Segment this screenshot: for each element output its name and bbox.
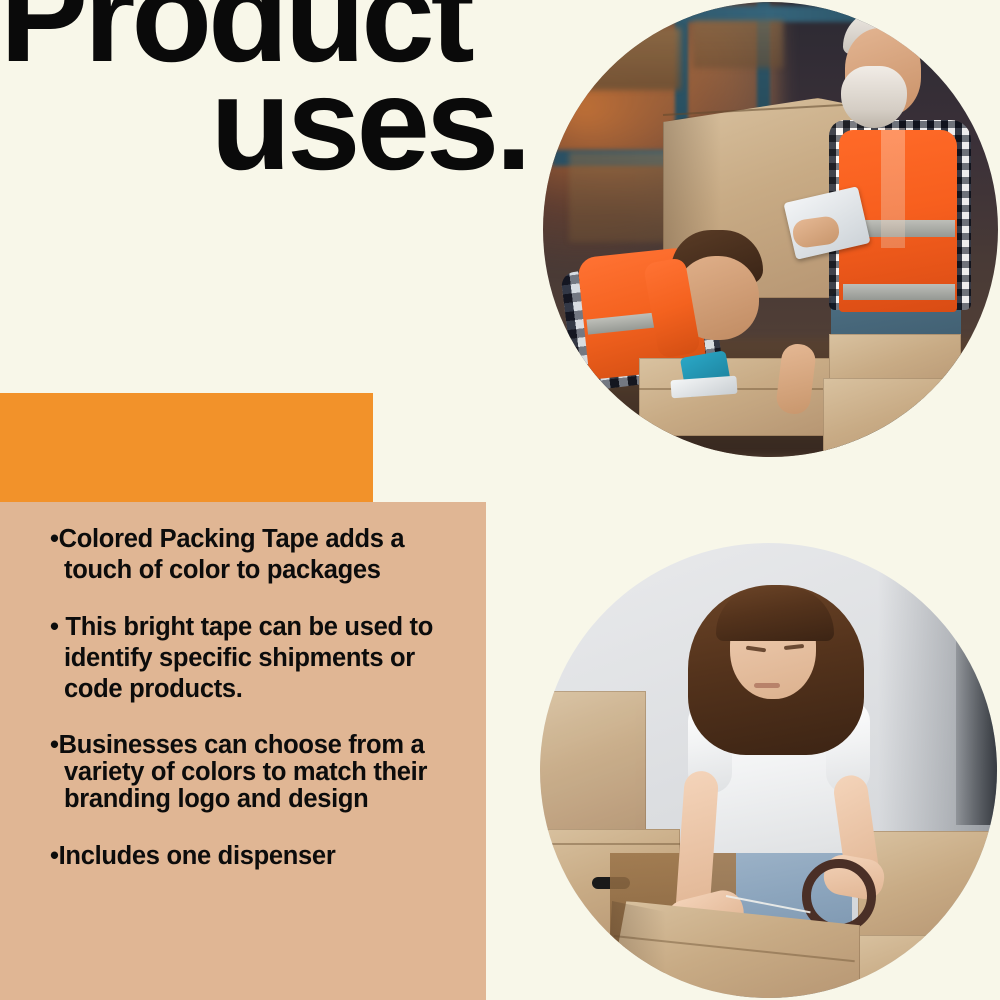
warehouse-scene <box>543 2 998 457</box>
cardboard-box <box>848 935 997 998</box>
vest-opening <box>881 128 905 248</box>
pallet-blur <box>569 152 679 242</box>
photo-warehouse-workers <box>543 2 998 457</box>
woman-mouth <box>754 683 780 688</box>
orange-accent-block <box>0 393 373 503</box>
pallet-blur <box>693 20 783 68</box>
list-item: •Includes one dispenser <box>64 841 468 872</box>
box-seam <box>540 843 680 845</box>
pallet-blur <box>561 28 681 90</box>
list-item: •Businesses can choose from a variety of… <box>64 732 468 813</box>
vest-reflective-stripe <box>843 284 955 300</box>
cardboard-box <box>823 378 973 457</box>
title-line-product: Product <box>0 0 540 70</box>
title-line-uses: uses. <box>0 70 540 178</box>
page-title: Product uses. <box>0 0 540 178</box>
product-uses-list: •Colored Packing Tape adds a touch of co… <box>0 502 486 1000</box>
infographic-canvas: Product uses. •Colored Packing Tape adds… <box>0 0 1000 1000</box>
wall-dark-edge <box>956 543 997 825</box>
cardboard-box <box>540 691 646 831</box>
list-item: •Colored Packing Tape adds a touch of co… <box>64 524 468 586</box>
photo-woman-taping-box <box>540 543 997 998</box>
moving-scene <box>540 543 997 998</box>
list-item: • This bright tape can be used to identi… <box>64 612 468 705</box>
box-shading <box>606 901 666 998</box>
box-seam <box>639 388 845 390</box>
